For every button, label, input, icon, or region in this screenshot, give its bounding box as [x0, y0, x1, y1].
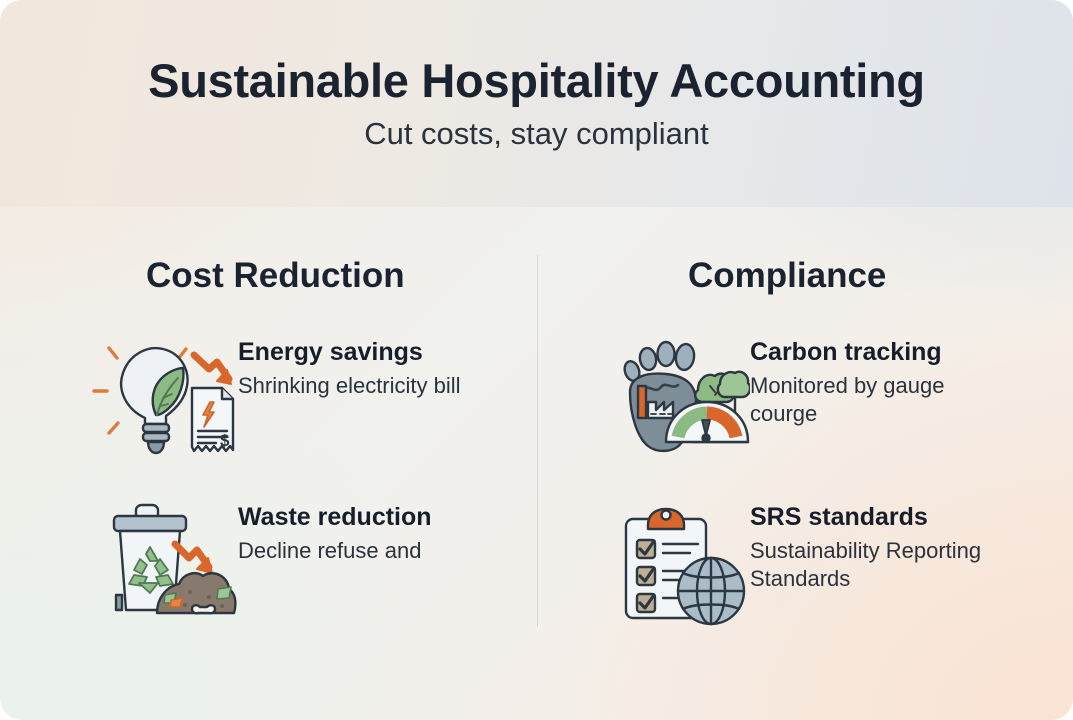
svg-text:$: $ — [220, 431, 230, 450]
feature-text-block: Waste reduction Decline refuse and — [238, 497, 432, 565]
column-divider — [537, 255, 538, 627]
clipboard-checklist-globe-icon — [610, 497, 750, 627]
column-heading: Compliance — [688, 258, 1060, 293]
feature-description: Sustainability Reporting Standards — [750, 537, 1000, 593]
feature-item-carbon-tracking: Carbon tracking Monitored by gauge courg… — [610, 332, 1000, 462]
feature-title: SRS standards — [750, 503, 1000, 531]
poster-header: Sustainable Hospitality Accounting Cut c… — [0, 0, 1073, 207]
feature-title: Waste reduction — [238, 503, 432, 531]
feature-text-block: Carbon tracking Monitored by gauge courg… — [750, 332, 1000, 428]
feature-description: Decline refuse and — [238, 537, 432, 565]
feature-item-energy-savings: $ Energy savings Shrinking electricity b… — [90, 332, 461, 462]
column-heading: Cost Reduction — [146, 258, 522, 293]
infographic-poster: Sustainable Hospitality Accounting Cut c… — [0, 0, 1073, 720]
feature-item-waste-reduction: Waste reduction Decline refuse and — [90, 497, 432, 627]
column-compliance: Compliance — [560, 207, 1060, 293]
column-cost-reduction: Cost Reduction — [22, 207, 522, 293]
feature-title: Carbon tracking — [750, 338, 1000, 366]
page-subtitle: Cut costs, stay compliant — [364, 117, 709, 151]
feature-text-block: SRS standards Sustainability Reporting S… — [750, 497, 1000, 593]
feature-description: Monitored by gauge courge — [750, 372, 1000, 428]
page-title: Sustainable Hospitality Accounting — [148, 56, 925, 105]
poster-body: Cost Reduction — [0, 207, 1073, 720]
lightbulb-leaf-down-arrow-bill-icon: $ — [90, 332, 238, 462]
feature-title: Energy savings — [238, 338, 461, 366]
feature-description: Shrinking electricity bill — [238, 372, 461, 400]
carbon-footprint-factory-gauge-icon — [610, 332, 750, 462]
recycle-bin-down-arrow-waste-pile-icon — [90, 497, 238, 627]
feature-text-block: Energy savings Shrinking electricity bil… — [238, 332, 461, 400]
feature-item-srs-standards: SRS standards Sustainability Reporting S… — [610, 497, 1000, 627]
